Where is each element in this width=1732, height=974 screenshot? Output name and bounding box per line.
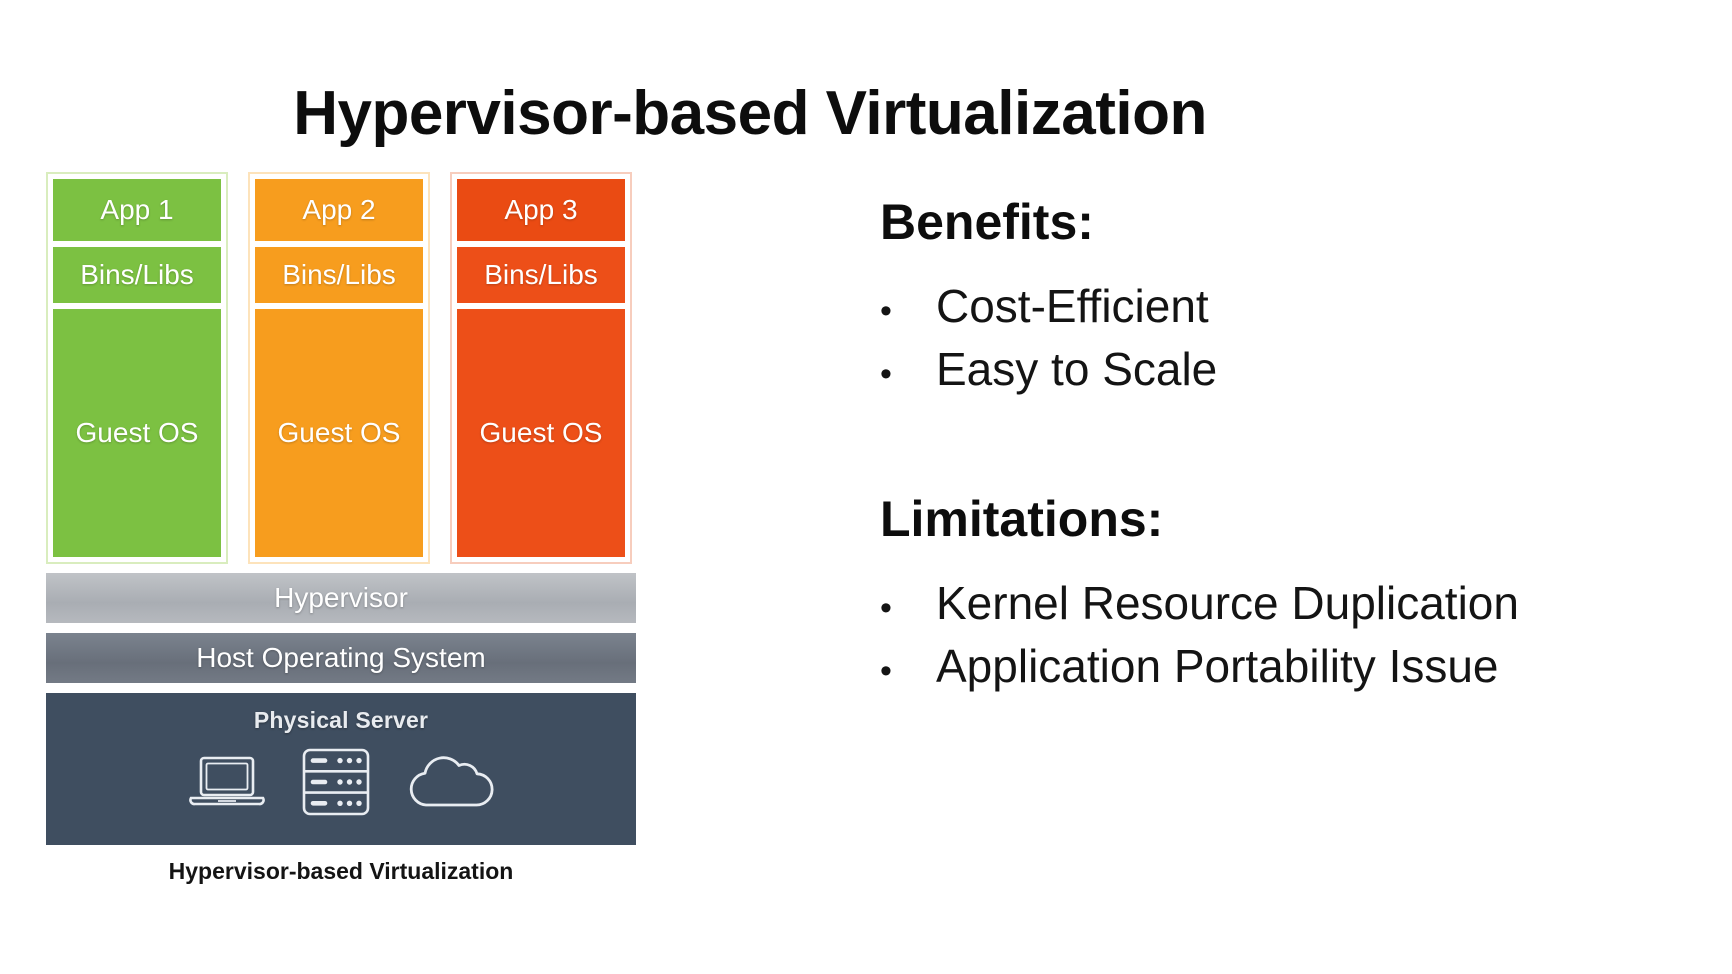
app-cell-2: App 2 bbox=[255, 179, 423, 241]
text-panel: Benefits: • Cost-Efficient • Easy to Sca… bbox=[880, 196, 1700, 699]
list-item: • Kernel Resource Duplication bbox=[880, 572, 1700, 635]
list-item-label: Cost-Efficient bbox=[936, 275, 1209, 338]
list-item-label: Application Portability Issue bbox=[936, 635, 1499, 698]
hypervisor-architecture-diagram: App 1 Bins/Libs Guest OS App 2 Bins/Libs… bbox=[46, 172, 636, 885]
page-title: Hypervisor-based Virtualization bbox=[0, 78, 1500, 149]
limitations-block: Limitations: • Kernel Resource Duplicati… bbox=[880, 493, 1700, 698]
benefits-block: Benefits: • Cost-Efficient • Easy to Sca… bbox=[880, 196, 1700, 401]
guest-os-cell-1: Guest OS bbox=[53, 309, 221, 557]
hypervisor-layer: Hypervisor bbox=[46, 573, 636, 623]
physical-server-layer: Physical Server bbox=[46, 693, 636, 845]
bullet-icon: • bbox=[880, 591, 936, 625]
app-cell-1: App 1 bbox=[53, 179, 221, 241]
guest-os-cell-2: Guest OS bbox=[255, 309, 423, 557]
physical-server-label: Physical Server bbox=[254, 707, 428, 734]
app-cell-3: App 3 bbox=[457, 179, 625, 241]
bullet-icon: • bbox=[880, 294, 936, 328]
limitations-list: • Kernel Resource Duplication • Applicat… bbox=[880, 572, 1700, 699]
bins-libs-cell-3: Bins/Libs bbox=[457, 247, 625, 303]
benefits-heading: Benefits: bbox=[880, 196, 1700, 249]
bullet-icon: • bbox=[880, 654, 936, 688]
guest-os-cell-3: Guest OS bbox=[457, 309, 625, 557]
benefits-list: • Cost-Efficient • Easy to Scale bbox=[880, 275, 1700, 402]
bullet-icon: • bbox=[880, 357, 936, 391]
list-item: • Cost-Efficient bbox=[880, 275, 1700, 338]
physical-server-icon-group bbox=[188, 746, 494, 818]
host-operating-system-layer: Host Operating System bbox=[46, 633, 636, 683]
laptop-icon bbox=[188, 753, 266, 811]
list-item: • Application Portability Issue bbox=[880, 635, 1700, 698]
diagram-caption: Hypervisor-based Virtualization bbox=[46, 858, 636, 885]
virtual-machine-row: App 1 Bins/Libs Guest OS App 2 Bins/Libs… bbox=[46, 172, 636, 564]
list-item-label: Easy to Scale bbox=[936, 338, 1217, 401]
cloud-icon bbox=[406, 751, 494, 813]
list-item: • Easy to Scale bbox=[880, 338, 1700, 401]
bins-libs-cell-2: Bins/Libs bbox=[255, 247, 423, 303]
list-item-label: Kernel Resource Duplication bbox=[936, 572, 1519, 635]
vm-column-1: App 1 Bins/Libs Guest OS bbox=[46, 172, 228, 564]
vm-column-3: App 3 Bins/Libs Guest OS bbox=[450, 172, 632, 564]
bins-libs-cell-1: Bins/Libs bbox=[53, 247, 221, 303]
limitations-heading: Limitations: bbox=[880, 493, 1700, 546]
server-rack-icon bbox=[300, 746, 372, 818]
vm-column-2: App 2 Bins/Libs Guest OS bbox=[248, 172, 430, 564]
